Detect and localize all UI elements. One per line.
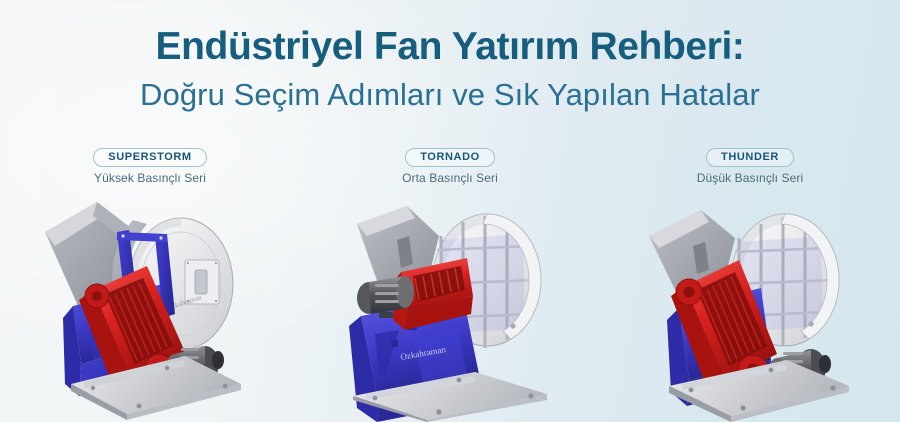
product-sublabel: Yüksek Basınçlı Seri	[94, 171, 206, 185]
promo-banner: Endüstriyel Fan Yatırım Rehberi: Doğru S…	[0, 0, 900, 422]
status-badge: THUNDER	[706, 148, 794, 167]
page-title: Endüstriyel Fan Yatırım Rehberi:	[0, 0, 900, 70]
page-subtitle: Doğru Seçim Adımları ve Sık Yapılan Hata…	[0, 70, 900, 114]
banner-header: Endüstriyel Fan Yatırım Rehberi: Doğru S…	[0, 0, 900, 114]
status-badge: SUPERSTORM	[93, 148, 206, 167]
product-sublabel: Düşük Basınçlı Seri	[697, 171, 804, 185]
product-sublabel: Orta Basınçlı Seri	[402, 171, 498, 185]
product-card-tornado[interactable]: TORNADO Orta Basınçlı Seri	[300, 148, 600, 422]
product-card-thunder[interactable]: THUNDER Düşük Basınçlı Seri	[600, 148, 900, 422]
product-card-superstorm[interactable]: SUPERSTORM Yüksek Basınçlı Seri	[0, 148, 300, 422]
status-badge: TORNADO	[405, 148, 495, 167]
centrifugal-fan-icon: Ozkahraman Ozkahraman	[35, 188, 265, 422]
centrifugal-fan-icon: Ozkahraman	[635, 188, 865, 422]
centrifugal-fan-icon: Ozkahraman	[335, 188, 565, 422]
product-row: SUPERSTORM Yüksek Basınçlı Seri	[0, 148, 900, 422]
